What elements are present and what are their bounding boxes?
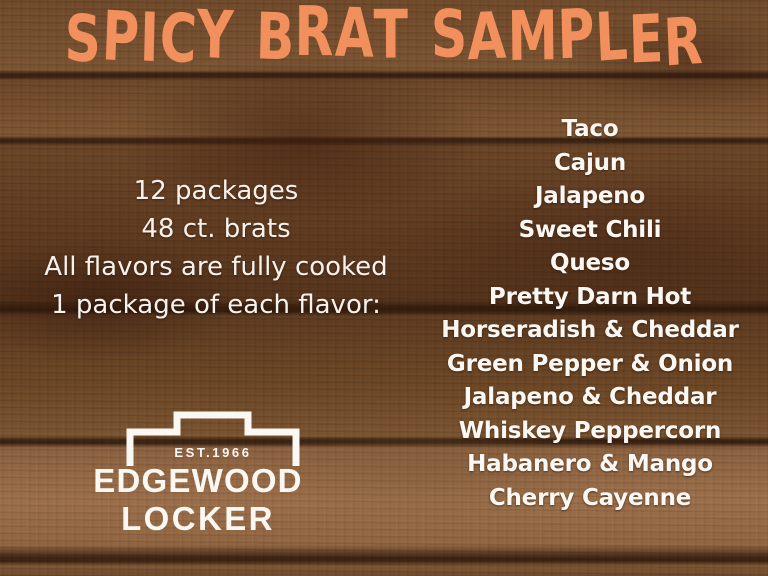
flavor-list: TacoCajunJalapenoSweet ChiliQuesoPretty … bbox=[412, 113, 768, 515]
title-letter: B bbox=[255, 4, 296, 70]
flavor-item: Habanero & Mango bbox=[412, 448, 768, 482]
title-letter: Y bbox=[196, 1, 235, 68]
flavor-item: Whiskey Peppercorn bbox=[412, 415, 768, 449]
info-line-4: 1 package of each flavor: bbox=[12, 286, 420, 324]
logo-established-text: EST.1966 bbox=[174, 445, 251, 460]
title-letter: I bbox=[139, 4, 160, 72]
flavor-item: Jalapeno bbox=[412, 180, 768, 214]
info-line-1: 12 packages bbox=[12, 172, 420, 210]
title-letter: L bbox=[594, 2, 630, 71]
flavor-item: Jalapeno & Cheddar bbox=[412, 381, 768, 415]
title-letter: S bbox=[64, 6, 102, 72]
edgewood-locker-logo: EST.1966 EDGEWOOD LOCKER bbox=[70, 408, 326, 540]
flavor-item: Pretty Darn Hot bbox=[412, 281, 768, 315]
title-letter: S bbox=[430, 1, 468, 67]
logo-name-line2: LOCKER bbox=[121, 500, 275, 537]
flavor-item: Cherry Cayenne bbox=[412, 482, 768, 516]
info-line-2: 48 ct. brats bbox=[12, 210, 420, 248]
flavor-item: Horseradish & Cheddar bbox=[412, 314, 768, 348]
title-letter: R bbox=[294, 0, 334, 66]
flavor-item: Green Pepper & Onion bbox=[412, 348, 768, 382]
title-letter: A bbox=[466, 3, 507, 69]
flavor-item: Sweet Chili bbox=[412, 214, 768, 248]
title-letter: P bbox=[101, 2, 141, 73]
product-info-block: 12 packages48 ct. bratsAll flavors are f… bbox=[12, 172, 420, 324]
title-letter: A bbox=[334, 0, 375, 67]
flavor-item: Taco bbox=[412, 113, 768, 147]
title-letter: C bbox=[158, 4, 198, 73]
title-letter: R bbox=[662, 8, 704, 76]
flavor-item: Cajun bbox=[412, 147, 768, 181]
info-line-3: All flavors are fully cooked bbox=[12, 248, 420, 286]
poster-title-text: SPICY BRAT SAMPLER bbox=[64, 6, 704, 73]
poster-title: SPICY BRAT SAMPLER bbox=[0, 6, 768, 90]
title-letter: M bbox=[507, 2, 559, 71]
title-letter bbox=[408, 3, 431, 70]
title-letter bbox=[233, 3, 255, 68]
title-letter: E bbox=[628, 6, 665, 73]
poster-canvas: SPICY BRAT SAMPLER 12 packages48 ct. bra… bbox=[0, 0, 768, 576]
flavor-item: Queso bbox=[412, 247, 768, 281]
logo-name-line1: EDGEWOOD bbox=[93, 462, 302, 499]
title-letter: T bbox=[374, 1, 409, 68]
title-letter: P bbox=[557, 0, 597, 69]
